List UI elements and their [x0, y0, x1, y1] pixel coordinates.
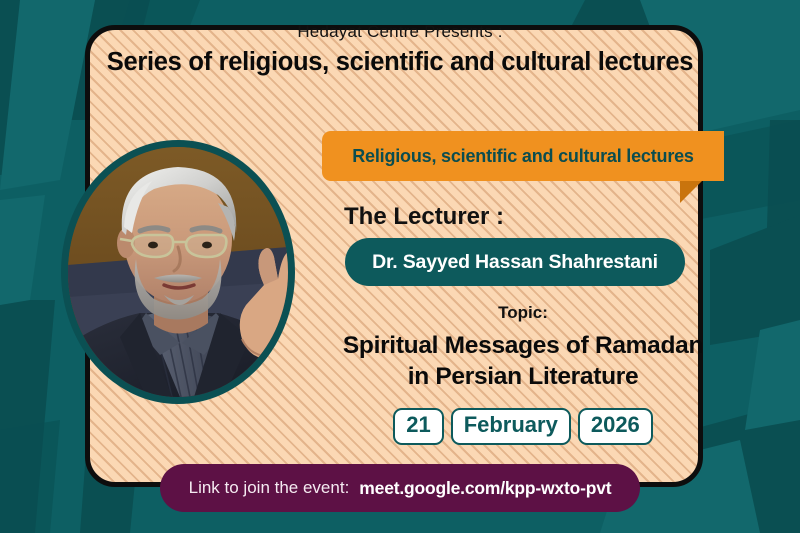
topic-title-line-2: in Persian Literature: [322, 361, 724, 392]
series-title: Series of religious, scientific and cult…: [0, 48, 800, 77]
join-link-url[interactable]: meet.google.com/kpp-wxto-pvt: [359, 478, 611, 499]
lecturer-label: The Lecturer :: [322, 203, 724, 231]
lecturer-name: Dr. Sayyed Hassan Shahrestani: [372, 251, 658, 274]
lecture-type-banner: Religious, scientific and cultural lectu…: [322, 131, 724, 181]
join-link-bar[interactable]: Link to join the event: meet.google.com/…: [160, 464, 640, 512]
date-day: 21: [393, 408, 443, 445]
topic-title: Spiritual Messages of Ramadan in Persian…: [322, 330, 724, 393]
lecturer-name-pill: Dr. Sayyed Hassan Shahrestani: [345, 238, 685, 286]
avatar: [68, 147, 288, 397]
topic-label: Topic:: [322, 303, 724, 323]
date-year: 2026: [578, 408, 653, 445]
banner-text: Religious, scientific and cultural lectu…: [352, 146, 694, 167]
date-month: February: [451, 408, 571, 445]
join-link-label: Link to join the event:: [189, 478, 350, 498]
banner-fold-icon: [680, 181, 702, 203]
banner-box: Religious, scientific and cultural lectu…: [322, 131, 724, 181]
speaker-portrait-image: [68, 147, 288, 397]
topic-title-line-1: Spiritual Messages of Ramadan: [322, 330, 724, 361]
event-date: 21 February 2026: [322, 408, 724, 445]
presents-line: Hedayat Centre Presents :: [0, 22, 800, 42]
speaker-portrait-ring: [61, 140, 295, 404]
